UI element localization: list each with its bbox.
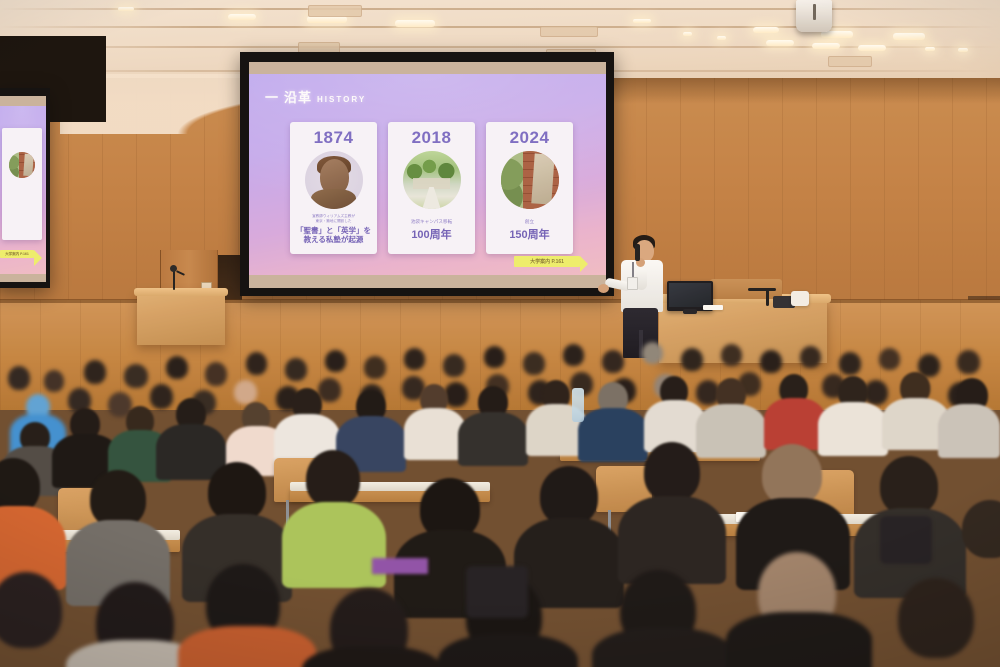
ceiling-light (118, 7, 134, 11)
slide-title-english: HISTORY (317, 95, 366, 104)
card-image-portrait (305, 151, 363, 209)
attendee-body (726, 612, 872, 667)
lecture-hall-photo: 大学案内 P.161 一 沿革 HISTORY 1874 宣教師ウィリアムズ主教… (0, 0, 1000, 667)
slide-reference-badge: 大学案内 P.161 (514, 256, 580, 267)
attendee-head (898, 578, 974, 658)
presenter-lanyard (632, 262, 634, 278)
attendee-head (962, 500, 1000, 558)
ceiling-projector (796, 0, 832, 32)
card-image-gate (9, 152, 35, 178)
side-projection-slide: 大学案内 P.161 (0, 106, 46, 274)
presenter-hand-right (598, 284, 609, 293)
slide-title: 一 沿革 HISTORY (265, 87, 366, 106)
handout-paper (372, 558, 428, 574)
water-bottle (572, 388, 584, 422)
handheld-microphone[interactable] (635, 244, 640, 261)
ceiling-light (683, 32, 692, 36)
ceiling-vent (540, 26, 598, 37)
attendee-head (540, 466, 598, 526)
ceiling-light (812, 43, 840, 49)
ceiling-light (958, 48, 968, 52)
ceiling-light (633, 19, 651, 23)
card-image-gate (501, 151, 559, 209)
backpack (466, 566, 528, 618)
ceiling-light (925, 47, 935, 51)
presentation-slide: 一 沿革 HISTORY 1874 宣教師ウィリアムズ主教が 東京・築地に開設し… (249, 74, 606, 275)
ceiling-vent (828, 56, 872, 67)
card-maintext-line2: 教える私塾が起源 (304, 235, 364, 245)
history-cards: 1874 宣教師ウィリアムズ主教が 東京・築地に開設した 「聖書」と「英学」を … (290, 122, 573, 254)
ceiling-light (395, 20, 435, 27)
side-slide-card (2, 128, 42, 240)
ceiling-light (717, 36, 726, 40)
lectern-left-top (134, 288, 228, 296)
attendee-body (618, 496, 726, 584)
handbag (880, 516, 932, 564)
slide-title-dash: 一 (265, 87, 279, 106)
ceiling-light (821, 31, 853, 38)
ceiling-light (766, 40, 794, 46)
attendee-body (302, 646, 442, 667)
attendee-body (592, 628, 734, 667)
card-maintext-line1: 100周年 (411, 228, 451, 242)
papers-on-lectern (703, 305, 723, 310)
history-card: 2024 創立 150周年 (486, 122, 573, 254)
gooseneck-microphone-neck (766, 290, 769, 306)
card-year: 1874 (314, 128, 354, 148)
attendee-head (880, 456, 938, 516)
attendee-head (306, 450, 360, 508)
audience (0, 330, 1000, 667)
attendee-body (178, 626, 316, 667)
ceiling-light (753, 27, 779, 33)
card-maintext-line1: 「聖書」と「英学」を (296, 226, 371, 236)
attendee-head (208, 462, 266, 522)
slide-title-japanese: 沿革 (284, 87, 312, 106)
ceiling-light (858, 45, 886, 51)
card-image-campus (403, 151, 461, 209)
card-maintext-line1: 150周年 (509, 228, 549, 242)
history-card: 1874 宣教師ウィリアムズ主教が 東京・築地に開設した 「聖書」と「英学」を … (290, 122, 377, 254)
attendee-body (438, 634, 578, 667)
attendee-head (762, 444, 822, 506)
ceiling-light (228, 14, 256, 20)
presenter-id-badge (627, 277, 638, 290)
gooseneck-microphone[interactable] (748, 288, 776, 291)
card-subtext-line1: 創立 (525, 219, 534, 225)
card-subtext-line2: 東京・築地に開設した (316, 219, 352, 224)
tissue-box (791, 291, 809, 306)
side-slide-reference-badge: 大学案内 P.161 (0, 250, 34, 258)
attendee-head (644, 442, 700, 502)
attendee-body (282, 502, 386, 588)
card-year: 2018 (412, 128, 452, 148)
ceiling-vent (308, 5, 362, 17)
ceiling-light (307, 16, 347, 23)
ceiling-light (893, 33, 925, 40)
card-subtext-line1: 池袋キャンパス移転 (411, 219, 452, 225)
card-year: 2024 (510, 128, 550, 148)
history-card: 2018 池袋キャンパス移転 100周年 (388, 122, 475, 254)
